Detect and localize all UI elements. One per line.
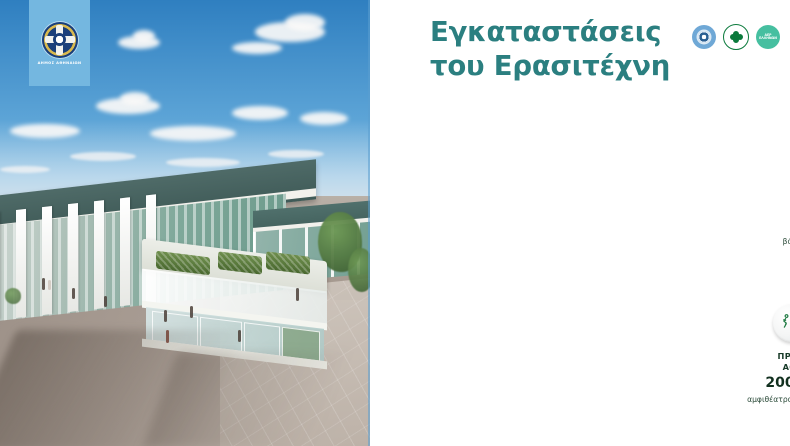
logo-amateur-club[interactable]: ΑΕΡ ΕΛΛΗΝΩΝ	[756, 25, 780, 49]
partner-logos: ΑΕΡ ΕΛΛΗΝΩΝ	[692, 24, 780, 50]
group-training-hall: ΠΡΟΠΟΝΗΤΗΡΙΟ ΑΘΛΟΠΑΙΔΙΩΝ 200 θέσεων - Χρ…	[745, 304, 790, 405]
training-description: αμφιθέατρου, αίθουσας εκδηλώσεων	[745, 394, 790, 405]
logo-municipality-athens[interactable]	[692, 25, 716, 49]
infographic-page: ΔΗΜΟΣ ΑΘΗΝΑΙΩΝ Εγκαταστάσεις του Ερασιτέ…	[0, 0, 790, 446]
badge-municipality: ΔΗΜΟΣ ΑΘΗΝΑΙΩΝ	[29, 0, 90, 86]
facility-rendering-image: ΔΗΜΟΣ ΑΘΗΝΑΙΩΝ	[0, 0, 370, 446]
arena-caption: ΚΕΝΤΡΙΚΗ ΑΡΕΝΑ 3.100 θέσεων βόλεϊ, μπάσκ…	[768, 204, 790, 258]
municipality-emblem-icon	[42, 22, 78, 58]
badge-municipality-label: ΔΗΜΟΣ ΑΘΗΝΑΙΩΝ	[38, 61, 82, 65]
training-caption: ΠΡΟΠΟΝΗΤΗΡΙΟ ΑΘΛΟΠΑΙΔΙΩΝ 200 θέσεων - Χρ…	[745, 351, 790, 405]
group-central-arena: ΚΕΝΤΡΙΚΗ ΑΡΕΝΑ 3.100 θέσεων βόλεϊ, μπάσκ…	[768, 112, 790, 258]
running-athletes-icon	[773, 304, 790, 342]
arena-description: βόλεϊ, μπάσκετ, futsal, μπάσκετ με αμαξί…	[768, 236, 790, 258]
logo-amateur-club-label: ΑΕΡ ΕΛΛΗΝΩΝ	[756, 34, 780, 41]
arena-heading: ΚΕΝΤΡΙΚΗ ΑΡΕΝΑ	[768, 204, 790, 215]
page-title-line1: Εγκαταστάσεις	[430, 16, 730, 50]
page-title: Εγκαταστάσεις του Ερασιτέχνη	[430, 16, 730, 83]
training-capacity: 200 θέσεων - Χρήσεις	[745, 373, 790, 394]
info-panel: Εγκαταστάσεις του Ερασιτέχνη ΑΕΡ ΕΛΛΗΝΩΝ	[370, 0, 790, 446]
training-capacity-number: 200	[765, 375, 790, 391]
page-title-line2: του Ερασιτέχνη	[430, 50, 730, 84]
training-heading-line2: ΑΘΛΟΠΑΙΔΙΩΝ	[745, 362, 790, 373]
logo-panathinaikos-clover[interactable]	[723, 24, 749, 50]
training-heading-line1: ΠΡΟΠΟΝΗΤΗΡΙΟ	[745, 351, 790, 362]
arena-capacity: 3.100 θέσεων	[768, 215, 790, 236]
